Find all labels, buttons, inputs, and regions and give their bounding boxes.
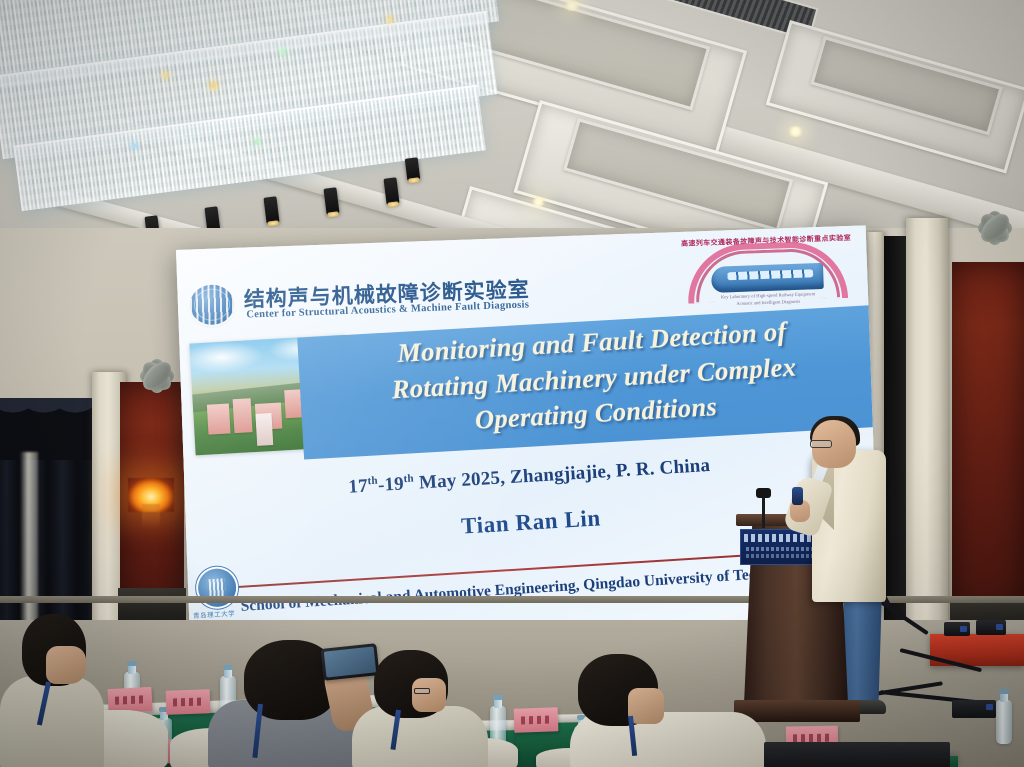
mic-stand: [762, 494, 765, 528]
handheld-microphone-icon: [792, 487, 803, 505]
equipment-box: [976, 620, 1006, 635]
floor-equipment: [952, 700, 996, 718]
wall-sconce: [128, 478, 174, 512]
date-ordinal-2: th: [403, 472, 414, 485]
downlight: [563, 0, 581, 11]
speaker-glasses-icon: [810, 440, 832, 448]
lab-emblem-icon: [189, 284, 234, 326]
downlight: [787, 126, 804, 137]
conference-photo-scene: 结构声与机械故障诊断实验室 Center for Structural Acou…: [0, 0, 1024, 767]
equipment-box: [944, 622, 970, 636]
laptop: [764, 742, 950, 767]
date-prefix: 17: [348, 476, 369, 498]
slide-title: Monitoring and Fault Detection of Rotati…: [297, 308, 879, 448]
place-name-card: [514, 707, 559, 733]
date-mid: -19: [377, 473, 404, 496]
water-bottle: [996, 700, 1012, 744]
date-suffix: May 2025, Zhangjiajie, P. R. China: [413, 455, 710, 494]
pillar-right-wide: [906, 218, 948, 658]
downlight: [531, 197, 546, 207]
attendee-glasses-icon: [414, 688, 430, 694]
gooseneck-microphone-icon: [756, 488, 771, 498]
smartphone[interactable]: [320, 643, 379, 681]
conference-logo: 高速列车交通装备故障声与技术智能诊断重点实验室 Key Laboratory o…: [680, 232, 854, 310]
wall-panel-right: [952, 262, 1024, 612]
wall-medallion-right: [962, 200, 1024, 256]
place-name-card: [166, 689, 211, 715]
track-light: [405, 157, 421, 180]
high-speed-train-icon: [711, 263, 824, 293]
door-gap: [884, 236, 906, 652]
